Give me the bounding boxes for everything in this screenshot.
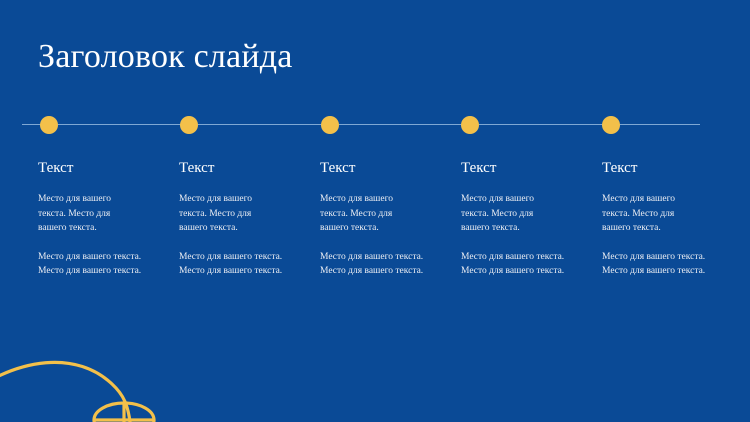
column-paragraph-2b: Место для вашего текста. Место для вашег… bbox=[179, 250, 303, 279]
timeline-dot-icon-2[interactable] bbox=[180, 116, 198, 134]
timeline bbox=[0, 110, 750, 140]
content-column-3: Текст Место для вашего текста. Место для… bbox=[320, 158, 460, 279]
timeline-dot-icon-3[interactable] bbox=[321, 116, 339, 134]
column-paragraph-4a: Место для вашего текста. Место для вашег… bbox=[461, 192, 547, 236]
globe-arc-ornament-icon bbox=[0, 332, 260, 422]
column-paragraph-2a: Место для вашего текста. Место для вашег… bbox=[179, 192, 265, 236]
column-paragraph-1a: Место для вашего текста. Место для вашег… bbox=[38, 192, 124, 236]
column-heading-3: Текст bbox=[320, 158, 460, 178]
content-column-5: Текст Место для вашего текста. Место для… bbox=[602, 158, 742, 279]
slide-title: Заголовок слайда bbox=[38, 36, 293, 78]
timeline-axis-line bbox=[22, 124, 700, 125]
column-paragraph-4b: Место для вашего текста. Место для вашег… bbox=[461, 250, 585, 279]
content-column-2: Текст Место для вашего текста. Место для… bbox=[179, 158, 319, 279]
column-paragraph-3b: Место для вашего текста. Место для вашег… bbox=[320, 250, 444, 279]
column-paragraph-5a: Место для вашего текста. Место для вашег… bbox=[602, 192, 688, 236]
column-paragraph-3a: Место для вашего текста. Место для вашег… bbox=[320, 192, 406, 236]
timeline-dot-icon-4[interactable] bbox=[461, 116, 479, 134]
column-paragraph-5b: Место для вашего текста. Место для вашег… bbox=[602, 250, 726, 279]
timeline-dot-icon-5[interactable] bbox=[602, 116, 620, 134]
column-heading-5: Текст bbox=[602, 158, 742, 178]
content-columns: Текст Место для вашего текста. Место для… bbox=[38, 158, 750, 338]
timeline-dot-icon-1[interactable] bbox=[40, 116, 58, 134]
slide-canvas: Заголовок слайда Текст Место для вашего … bbox=[0, 0, 750, 422]
column-heading-1: Текст bbox=[38, 158, 178, 178]
content-column-4: Текст Место для вашего текста. Место для… bbox=[461, 158, 601, 279]
column-heading-4: Текст bbox=[461, 158, 601, 178]
column-heading-2: Текст bbox=[179, 158, 319, 178]
column-paragraph-1b: Место для вашего текста. Место для вашег… bbox=[38, 250, 162, 279]
content-column-1: Текст Место для вашего текста. Место для… bbox=[38, 158, 178, 279]
